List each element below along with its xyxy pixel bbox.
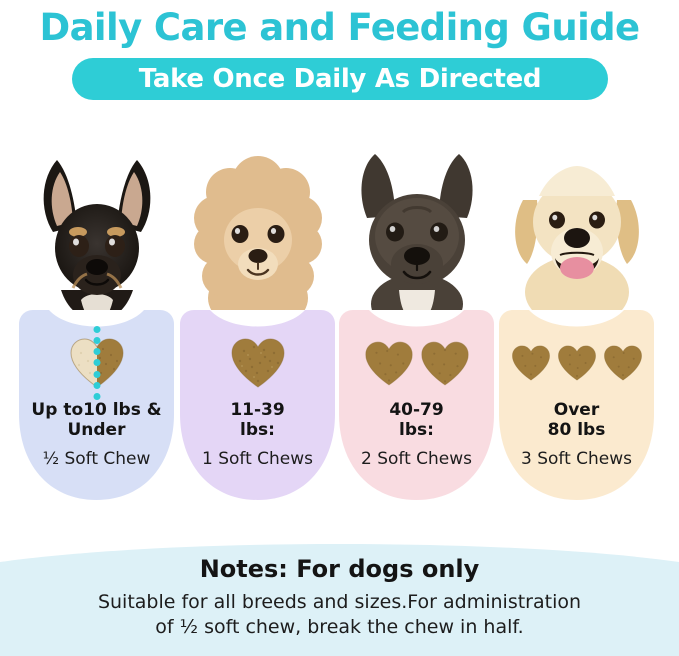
notes-title: Notes: For dogs only — [200, 555, 480, 583]
weight-range-label: 40-79 lbs: — [389, 400, 443, 440]
dog-poodle-photo — [178, 140, 338, 320]
dose-amount-label: 2 Soft Chews — [361, 449, 472, 469]
dog-french-bulldog-photo — [337, 140, 497, 320]
soft-chew-icon — [557, 344, 597, 382]
dose-card-1: Up to10 lbs & Under ½ Soft Chew — [19, 310, 174, 500]
chew-row — [230, 332, 286, 394]
dose-column-3: 40-79 lbs: 2 Soft Chews — [337, 140, 497, 505]
dog-chihuahua-photo — [17, 140, 177, 320]
soft-chew-icon — [230, 337, 286, 389]
dose-amount-label: 3 Soft Chews — [521, 449, 632, 469]
half-split-dotted-line — [93, 326, 100, 400]
dog-golden-retriever-photo — [497, 140, 657, 320]
chew-row — [69, 332, 125, 394]
page-title: Daily Care and Feeding Guide — [0, 6, 679, 49]
weight-range-label: 11-39 lbs: — [230, 400, 284, 440]
dose-amount-label: ½ Soft Chew — [43, 449, 151, 469]
dose-card-2: 11-39 lbs: 1 Soft Chews — [180, 310, 335, 500]
dose-card-4: Over 80 lbs 3 Soft Chews — [499, 310, 654, 500]
soft-chew-icon — [364, 340, 414, 387]
dose-column-1: Up to10 lbs & Under ½ Soft Chew — [17, 140, 177, 505]
chew-row — [364, 332, 470, 394]
weight-range-label: Over 80 lbs — [548, 400, 606, 440]
notes-section: Notes: For dogs only Suitable for all br… — [0, 536, 679, 656]
dose-column-4: Over 80 lbs 3 Soft Chews — [497, 140, 657, 505]
dose-column-2: 11-39 lbs: 1 Soft Chews — [178, 140, 338, 505]
dose-card-3: 40-79 lbs: 2 Soft Chews — [339, 310, 494, 500]
directions-banner: Take Once Daily As Directed — [72, 58, 608, 100]
soft-chew-icon — [603, 344, 643, 382]
directions-banner-label: Take Once Daily As Directed — [139, 64, 541, 94]
dose-amount-label: 1 Soft Chews — [202, 449, 313, 469]
soft-chew-icon — [420, 340, 470, 387]
notes-body: Suitable for all breeds and sizes.For ad… — [98, 590, 581, 640]
soft-chew-icon — [511, 344, 551, 382]
weight-range-label: Up to10 lbs & Under — [31, 400, 161, 440]
chew-row — [511, 332, 643, 394]
